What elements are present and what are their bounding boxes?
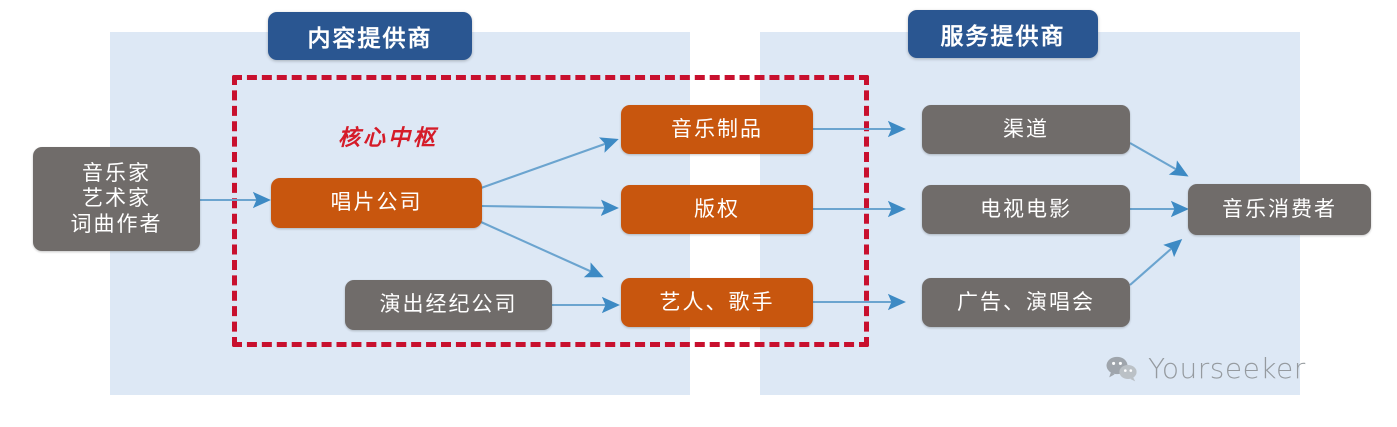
- node-copyright-label: 版权: [694, 197, 740, 223]
- node-tv-film[interactable]: 电视电影: [922, 185, 1130, 234]
- node-creators-line-1: 音乐家: [82, 161, 151, 187]
- node-channel[interactable]: 渠道: [922, 105, 1130, 154]
- header-service-provider-label: 服务提供商: [941, 17, 1066, 51]
- node-music-products[interactable]: 音乐制品: [621, 105, 813, 154]
- node-creators-line-3: 词曲作者: [71, 212, 163, 238]
- header-content-provider: 内容提供商: [268, 12, 472, 60]
- node-creators-line-2: 艺术家: [82, 186, 151, 212]
- node-copyright[interactable]: 版权: [621, 185, 813, 234]
- watermark-text: Yourseeker: [1148, 352, 1306, 385]
- watermark: Yourseeker: [1105, 352, 1306, 385]
- diagram-canvas: 内容提供商 服务提供商 核心中枢 音乐家: [0, 0, 1397, 427]
- header-content-provider-label: 内容提供商: [308, 19, 433, 53]
- node-music-products-label: 音乐制品: [671, 117, 763, 143]
- node-artists-singers[interactable]: 艺人、歌手: [621, 278, 813, 327]
- node-ads-concerts[interactable]: 广告、演唱会: [922, 278, 1130, 327]
- node-ads-concerts-label: 广告、演唱会: [957, 290, 1095, 316]
- node-creators[interactable]: 音乐家 艺术家 词曲作者: [33, 147, 200, 251]
- annotation-core-hub: 核心中枢: [338, 120, 438, 152]
- wechat-icon: [1105, 355, 1139, 383]
- node-record-company-label: 唱片公司: [331, 190, 423, 216]
- annotation-core-hub-label: 核心中枢: [338, 125, 438, 150]
- node-consumers[interactable]: 音乐消费者: [1188, 184, 1371, 235]
- node-tv-film-label: 电视电影: [980, 197, 1072, 223]
- node-consumers-label: 音乐消费者: [1222, 197, 1337, 223]
- node-agency[interactable]: 演出经纪公司: [345, 280, 552, 330]
- node-agency-label: 演出经纪公司: [380, 292, 518, 318]
- node-artists-singers-label: 艺人、歌手: [660, 290, 775, 316]
- node-record-company[interactable]: 唱片公司: [271, 178, 482, 228]
- node-channel-label: 渠道: [1003, 117, 1049, 143]
- header-service-provider: 服务提供商: [908, 10, 1098, 58]
